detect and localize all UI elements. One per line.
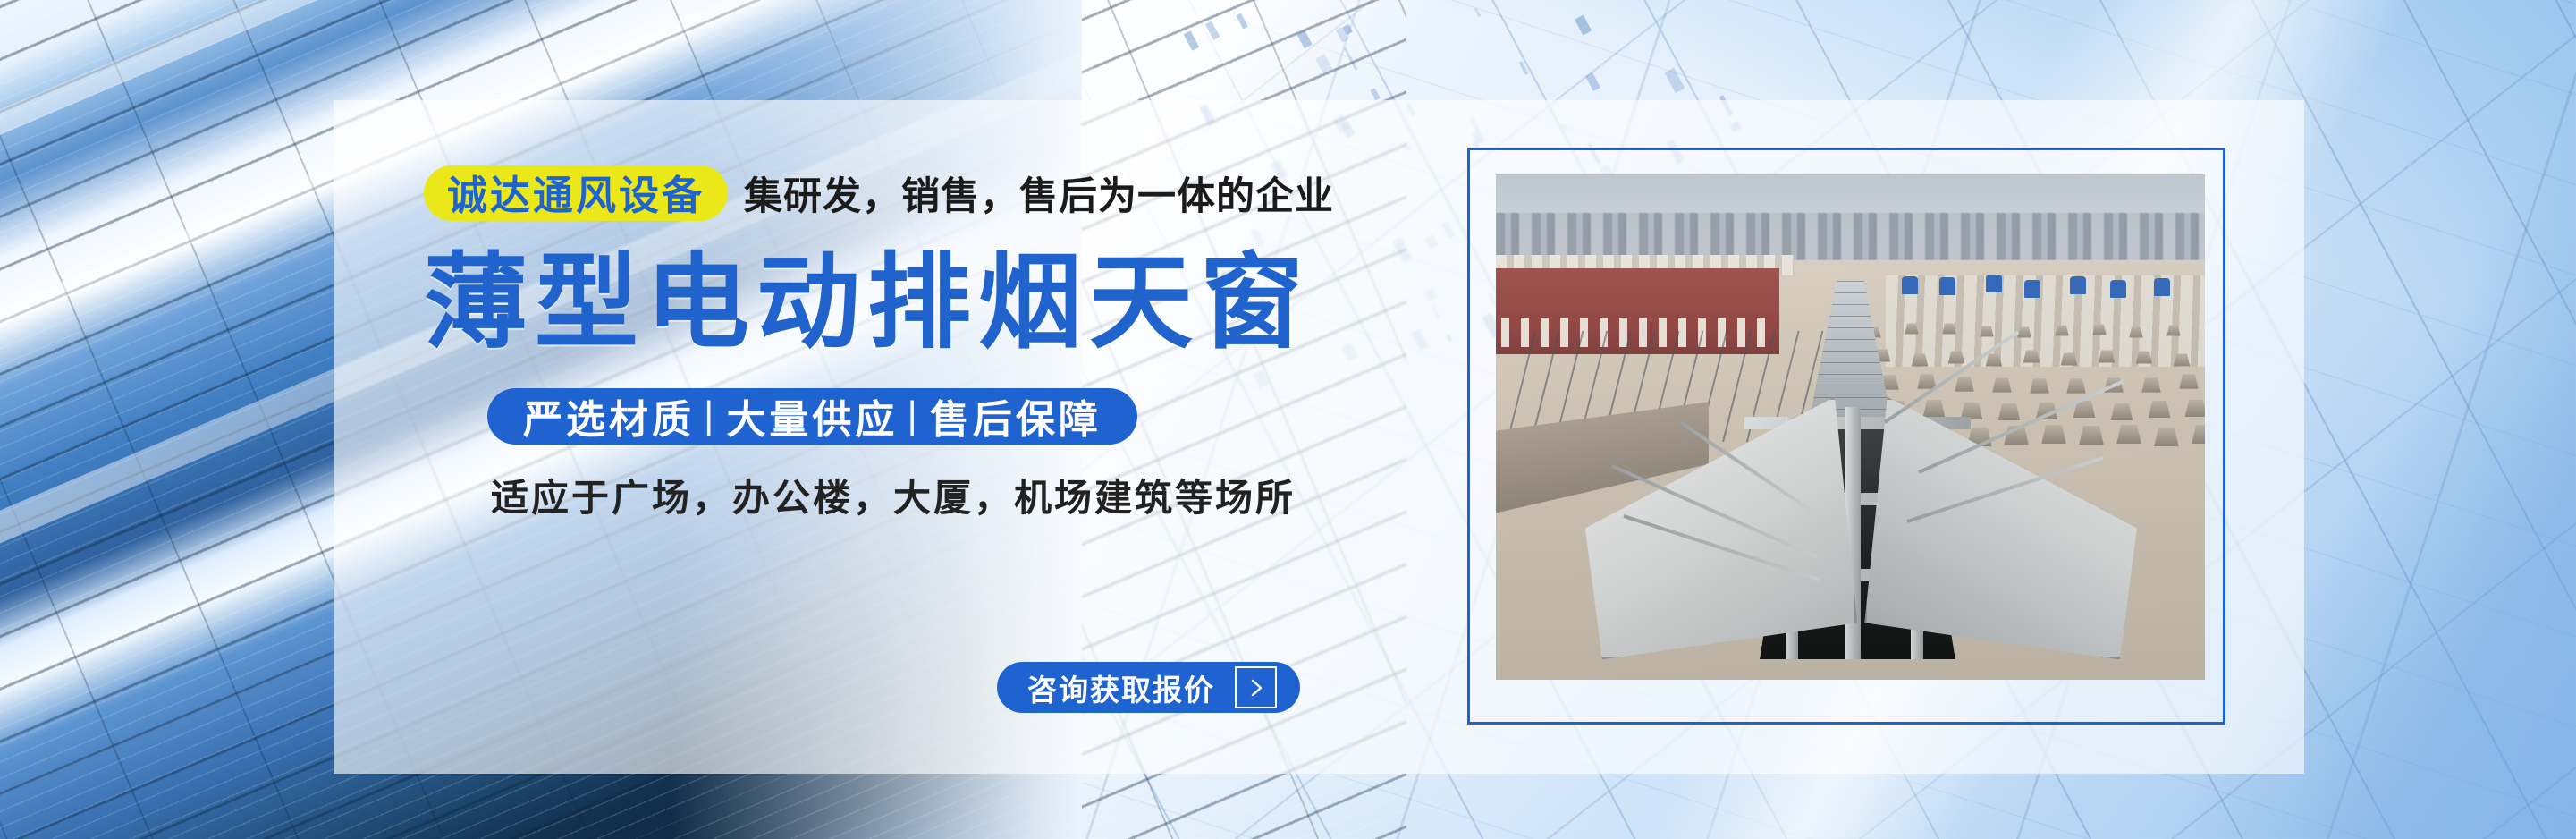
page-title: 薄型电动排烟天窗	[424, 245, 1425, 361]
brand-line: 诚达通风设备 集研发，销售，售后为一体的企业	[424, 161, 1425, 225]
copy-block: 诚达通风设备 集研发，销售，售后为一体的企业 薄型电动排烟天窗 严选材质 | 大…	[424, 161, 1425, 522]
brand-badge: 诚达通风设备	[424, 165, 728, 221]
cta-label: 咨询获取报价	[1027, 666, 1215, 709]
tagline: 集研发，销售，售后为一体的企业	[744, 165, 1334, 221]
product-photo-frame	[1467, 148, 2225, 725]
chevron-right-icon	[1235, 666, 1277, 708]
feature-separator-0: |	[695, 394, 726, 438]
photo-shading	[1496, 174, 2205, 680]
product-photo	[1496, 174, 2205, 680]
feature-item-0: 严选材质	[523, 387, 695, 445]
promo-banner: 诚达通风设备 集研发，销售，售后为一体的企业 薄型电动排烟天窗 严选材质 | 大…	[0, 0, 2576, 839]
feature-item-1: 大量供应	[726, 387, 898, 445]
cta-quote-button[interactable]: 咨询获取报价	[997, 662, 1300, 713]
feature-separator-1: |	[898, 394, 929, 438]
feature-item-2: 售后保障	[930, 387, 1102, 445]
feature-pill: 严选材质 | 大量供应 | 售后保障	[487, 388, 1137, 445]
subline: 适应于广场，办公楼，大厦，机场建筑等场所	[491, 468, 1425, 522]
